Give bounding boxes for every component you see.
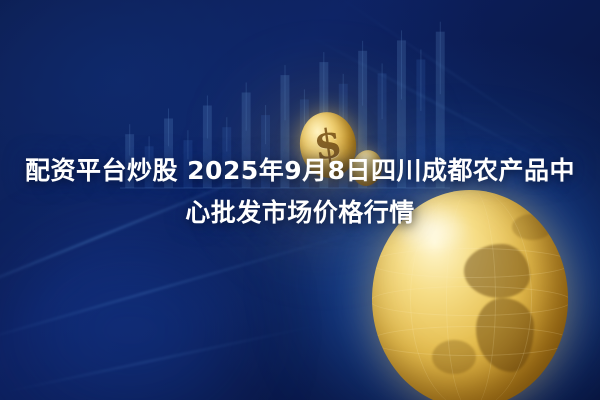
light-streak [0, 229, 364, 347]
promo-banner: $ 配资平台炒股 2025年9月8日四川成都农产品中 心批发市场价格行情 [0, 0, 600, 400]
globe-parallel [372, 248, 568, 278]
globe-parallel [372, 326, 568, 356]
page-title: 配资平台炒股 2025年9月8日四川成都农产品中 心批发市场价格行情 [0, 150, 600, 234]
headline-line-2: 心批发市场价格行情 [0, 192, 600, 234]
blue-glow-left [20, 250, 240, 400]
light-streak [0, 323, 323, 394]
headline-line-1: 配资平台炒股 2025年9月8日四川成都农产品中 [0, 150, 600, 192]
globe-parallel [372, 286, 568, 316]
